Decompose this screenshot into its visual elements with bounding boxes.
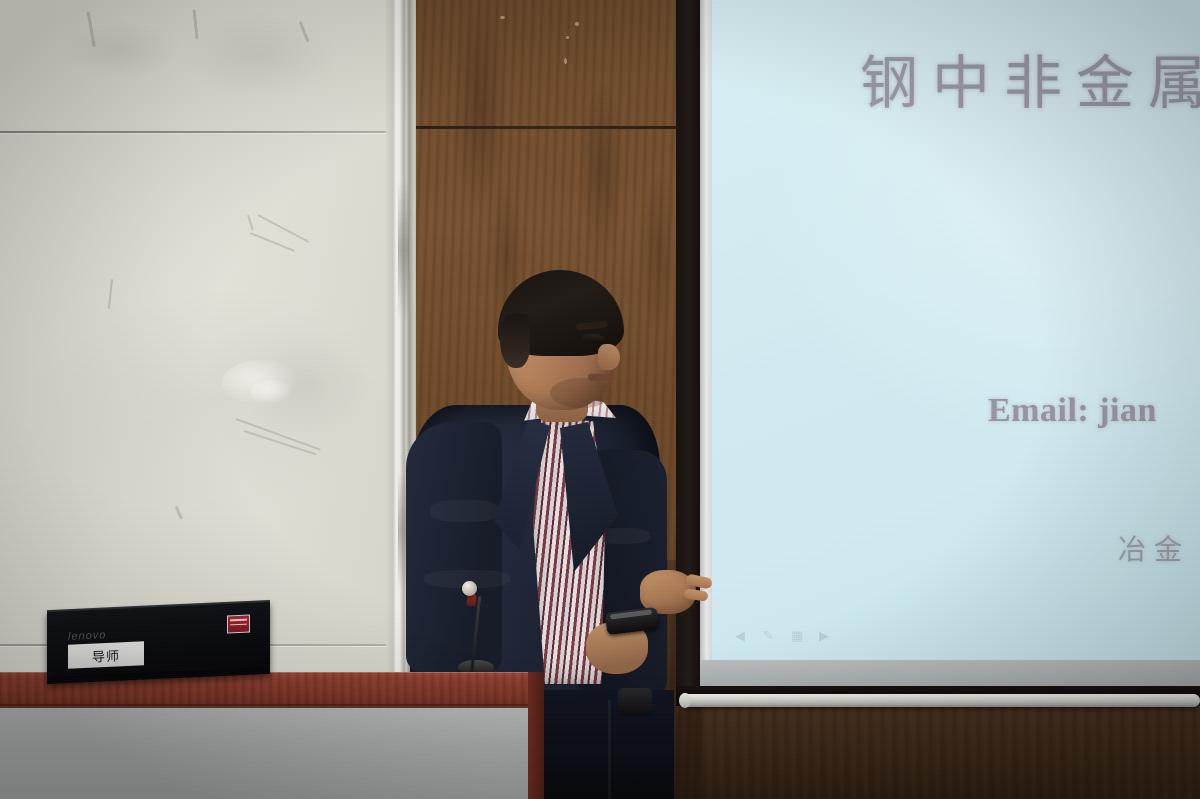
laptop-asset-sticker (227, 614, 250, 633)
wood-wall-lower-right (702, 695, 1200, 799)
microphone-head (462, 581, 477, 596)
presenter-eye (582, 334, 604, 343)
screen-bottom-band (700, 660, 1200, 686)
wood-speck (500, 16, 505, 19)
wood-panel-seam (416, 126, 702, 129)
wall-scuff (250, 380, 294, 406)
laptop-name-tag: 导师 (68, 641, 144, 668)
wood-speck (575, 22, 579, 26)
next-arrow-icon[interactable]: ▶ (819, 631, 835, 643)
presenter-belt-pouch (618, 688, 652, 716)
slide-email-text: Email: jian (988, 392, 1157, 430)
podium-front-panel (0, 708, 540, 799)
wall-seam-upper (0, 131, 396, 133)
pen-icon[interactable]: ✎ (763, 631, 779, 643)
podium-right-edge (528, 672, 544, 799)
presenter-nose (598, 344, 620, 370)
wood-speck (566, 36, 569, 39)
slide-affiliation-text: 冶金 (1118, 528, 1190, 568)
wood-speck (564, 58, 567, 64)
jacket-fold (430, 500, 500, 522)
lecture-hall-photo: 钢中非金属 Email: jian 冶金 ◀ ✎ ▦ ▶ (0, 0, 1200, 799)
powerpoint-presenter-toolbar[interactable]: ◀ ✎ ▦ ▶ (735, 631, 835, 643)
presenter-left-shoulder (406, 422, 502, 672)
prev-arrow-icon[interactable]: ◀ (735, 631, 751, 643)
slide-menu-icon[interactable]: ▦ (791, 631, 807, 643)
presenter-sideburn (500, 314, 530, 368)
laptop-brand-logo: lenovo (68, 629, 106, 643)
presenter-trouser-crease (608, 700, 611, 799)
screen-weight-bar[interactable] (682, 694, 1200, 707)
slide-title-text: 钢中非金属 (860, 36, 1200, 120)
presenter-jaw-shadow (550, 378, 612, 408)
